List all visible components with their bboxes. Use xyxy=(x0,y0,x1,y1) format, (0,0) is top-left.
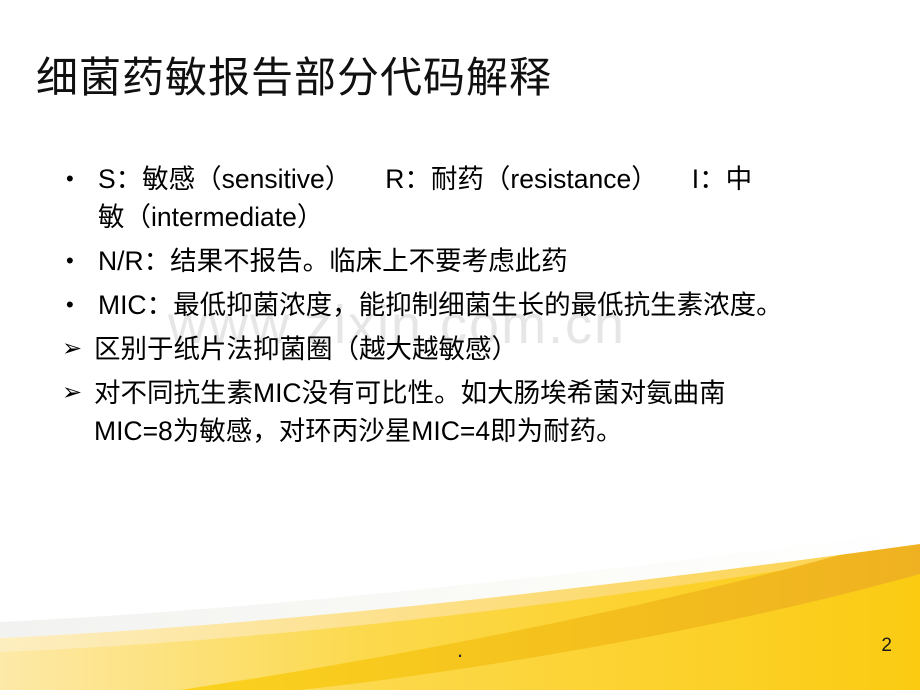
bullet-5-line1: 对不同抗生素MIC没有可比性。如大肠埃希菌对氨曲南 xyxy=(94,378,726,408)
list-item: • N/R：结果不报告。临床上不要考虑此药 xyxy=(62,242,882,280)
slide-title: 细菌药敏报告部分代码解释 xyxy=(36,54,552,102)
bullet-1-line2: 敏（intermediate） xyxy=(98,202,323,232)
list-item: ➢ 区别于纸片法抑菌圈（越大越敏感） xyxy=(62,330,882,368)
list-item: ➢ 对不同抗生素MIC没有可比性。如大肠埃希菌对氨曲南MIC=8为敏感，对环丙沙… xyxy=(62,374,882,450)
decor-band-pale xyxy=(0,538,920,690)
list-item-text: N/R：结果不报告。临床上不要考虑此药 xyxy=(98,242,882,280)
dot-bullet-icon: • xyxy=(62,286,98,324)
footer-decoration xyxy=(0,530,920,690)
bullet-list: • S：敏感（sensitive）R：耐药（resistance）I：中敏（in… xyxy=(62,160,882,456)
list-item: • S：敏感（sensitive）R：耐药（resistance）I：中敏（in… xyxy=(62,160,882,236)
list-item-text: 对不同抗生素MIC没有可比性。如大肠埃希菌对氨曲南MIC=8为敏感，对环丙沙星M… xyxy=(94,374,882,450)
bullet-5-line2: MIC=8为敏感，对环丙沙星MIC=4即为耐药。 xyxy=(94,416,623,446)
bullet-1-segment-i: I：中 xyxy=(692,164,752,194)
list-item-text: 区别于纸片法抑菌圈（越大越敏感） xyxy=(94,330,882,368)
arrow-bullet-icon: ➢ xyxy=(62,374,94,412)
decor-band-mid xyxy=(0,548,920,690)
page-number: 2 xyxy=(881,635,892,657)
list-item-text: S：敏感（sensitive）R：耐药（resistance）I：中敏（inte… xyxy=(98,160,882,236)
footer-dot: . xyxy=(457,645,463,655)
bullet-1-segment-s: S：敏感（sensitive） xyxy=(98,164,351,194)
list-item-text: MIC：最低抑菌浓度，能抑制细菌生长的最低抗生素浓度。 xyxy=(98,286,882,324)
decor-band-white xyxy=(0,530,920,638)
list-item: • MIC：最低抑菌浓度，能抑制细菌生长的最低抗生素浓度。 xyxy=(62,286,882,324)
bullet-1-segment-r: R：耐药（resistance） xyxy=(385,164,657,194)
arrow-bullet-icon: ➢ xyxy=(62,330,94,368)
dot-bullet-icon: • xyxy=(62,242,98,280)
decor-band-dark xyxy=(180,532,920,690)
dot-bullet-icon: • xyxy=(62,160,98,198)
presentation-slide: www.zixin.com.cn 细菌药敏报告部分代码解释 • S：敏感（sen… xyxy=(0,0,920,690)
